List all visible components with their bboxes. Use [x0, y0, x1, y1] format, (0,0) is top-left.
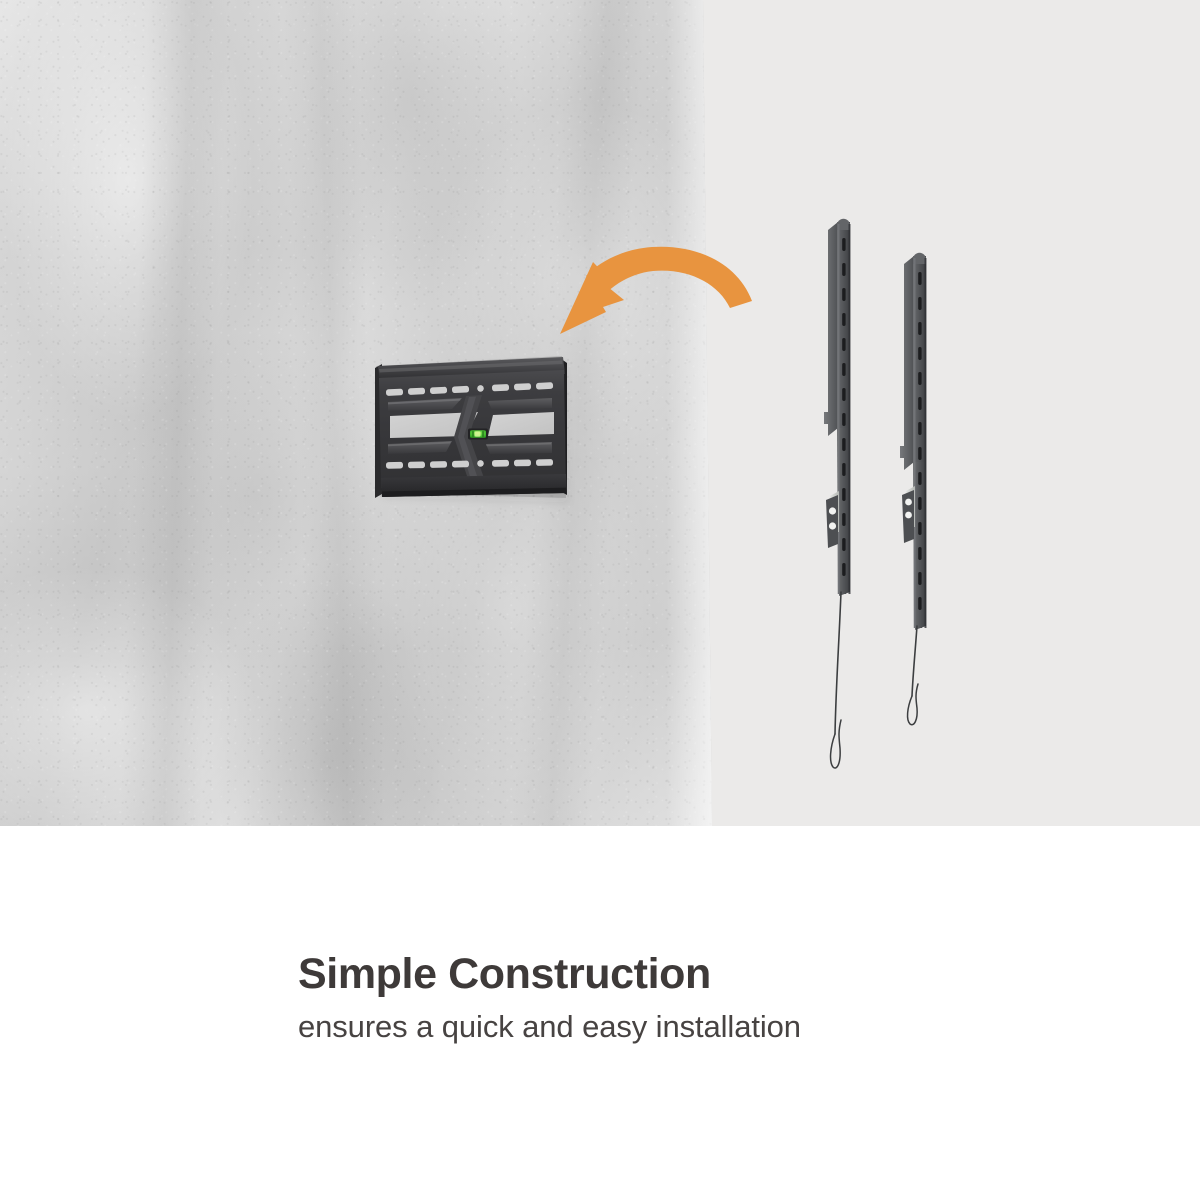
product-feature-card: Simple Construction ensures a quick and …	[0, 0, 1200, 1200]
wall-edge-highlight	[666, 0, 712, 826]
vertical-rail-left	[824, 219, 851, 768]
hero-image-panel	[0, 0, 1200, 826]
tv-wall-mount-plate	[366, 352, 578, 510]
wall-streak-overlay	[0, 0, 712, 826]
curved-orange-arrow	[548, 238, 758, 348]
vertical-rail-group	[808, 214, 958, 780]
caption-block: Simple Construction ensures a quick and …	[0, 826, 1200, 1200]
feature-subheadline: ensures a quick and easy installation	[298, 1009, 998, 1045]
vertical-rail-right	[900, 253, 927, 725]
caption-inner: Simple Construction ensures a quick and …	[298, 951, 998, 1045]
concrete-wall-texture	[0, 0, 712, 826]
feature-headline: Simple Construction	[298, 951, 998, 997]
